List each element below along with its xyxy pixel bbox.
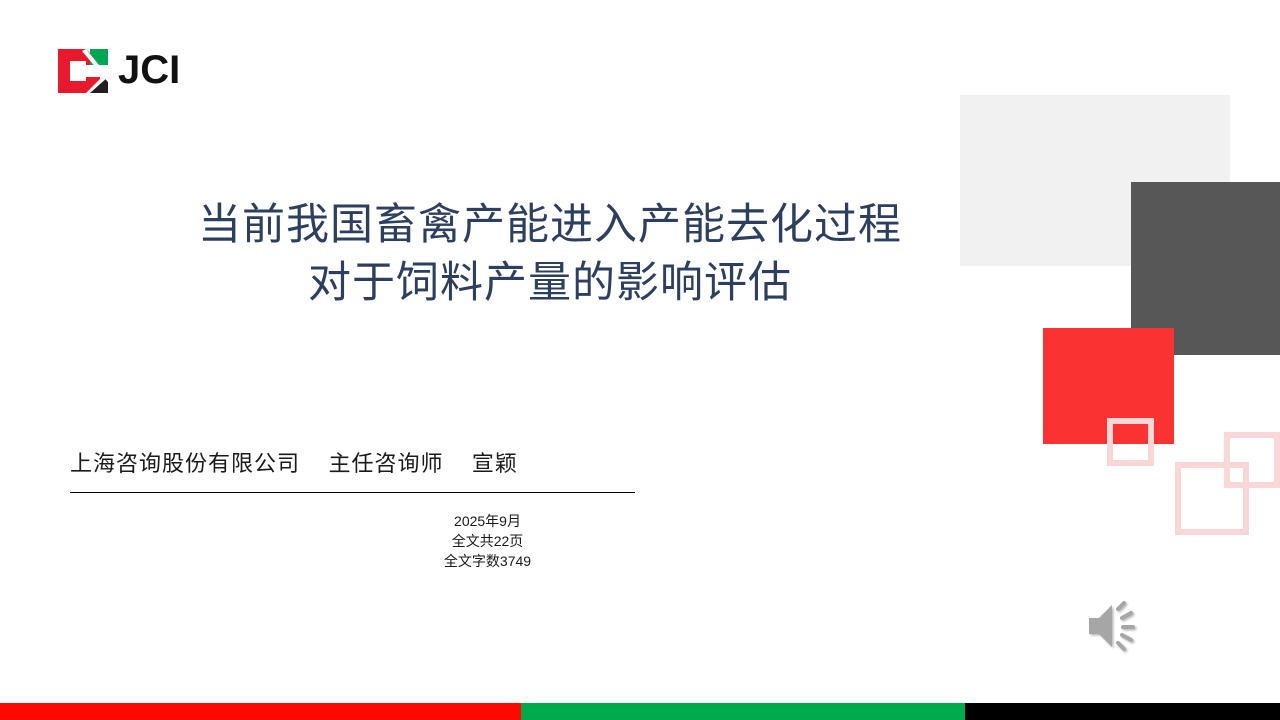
author-divider-rule [70, 492, 635, 493]
decor-outline-square-large [1175, 462, 1249, 535]
bottom-bar-segment-black [965, 703, 1280, 720]
meta-page-count: 全文共22页 [335, 531, 640, 551]
bottom-accent-bar [0, 703, 1280, 720]
meta-date: 2025年9月 [335, 511, 640, 531]
decor-outline-square-small [1107, 418, 1154, 466]
slide-title: 当前我国畜禽产能进入产能去化过程 对于饲料产量的影响评估 [0, 196, 1100, 312]
title-line-1: 当前我国畜禽产能进入产能去化过程 [0, 196, 1100, 254]
brand-logo: JCI [56, 45, 180, 97]
speaker-sound-icon[interactable] [1085, 596, 1157, 656]
document-meta: 2025年9月 全文共22页 全文字数3749 [335, 511, 640, 571]
jci-logo-mark-icon [56, 47, 112, 95]
author-affiliation-line: 上海咨询股份有限公司 主任咨询师 宣颖 [70, 446, 518, 478]
title-slide: JCI 当前我国畜禽产能进入产能去化过程 对于饲料产量的影响评估 上海咨询股份有… [0, 0, 1280, 720]
bottom-bar-segment-green [521, 703, 965, 720]
meta-word-count: 全文字数3749 [335, 551, 640, 571]
logo-wordmark: JCI [118, 50, 180, 92]
title-line-2: 对于饲料产量的影响评估 [0, 254, 1100, 312]
bottom-bar-segment-red [0, 703, 521, 720]
